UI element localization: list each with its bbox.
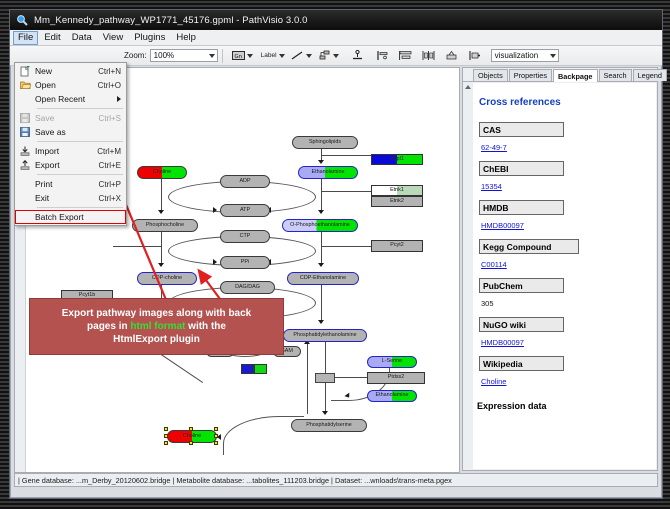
file-menu-exit[interactable]: Exit Ctrl+X	[15, 191, 126, 205]
side-panel: Objects Properties Backpage Search Legen…	[462, 67, 658, 471]
xref-header-nugo-wiki: NuGO wiki	[479, 317, 564, 332]
tab-legend[interactable]: Legend	[633, 69, 667, 82]
pathvisio-icon	[16, 14, 29, 27]
menu-help[interactable]: Help	[171, 31, 201, 45]
group-icon[interactable]	[444, 49, 459, 63]
folder-open-icon	[15, 80, 35, 90]
tab-search[interactable]: Search	[599, 69, 632, 82]
align-distribute-icon[interactable]	[421, 49, 436, 63]
file-menu-open-recent[interactable]: Open Recent	[15, 92, 126, 106]
xref-header-pubchem: PubChem	[479, 278, 564, 293]
menu-file[interactable]: File	[13, 31, 38, 45]
label-dropdown-icon[interactable]	[279, 49, 286, 63]
xref-header-kegg-compound: Kegg Compound	[479, 239, 579, 254]
file-menu-import[interactable]: Import Ctrl+M	[15, 144, 126, 158]
menu-divider	[37, 207, 123, 208]
file-menu-batch-export-label: Batch Export	[35, 212, 126, 222]
tab-properties[interactable]: Properties	[509, 69, 552, 82]
xref-header-hmdb: HMDB	[479, 200, 564, 215]
tab-backpage[interactable]: Backpage	[553, 69, 597, 83]
annotation-callout: Export pathway images along with back pa…	[29, 298, 284, 355]
file-menu-export[interactable]: Export Ctrl+E	[15, 158, 126, 172]
chevron-right-icon	[117, 96, 121, 102]
screenshot-root: Mm_Kennedy_pathway_WP1771_45176.gpml - P…	[0, 0, 670, 509]
xref-value-kegg-compound[interactable]: C00114	[481, 260, 507, 269]
file-menu-save-label: Save	[35, 113, 99, 123]
status-text: | Gene database: ...m_Derby_20120602.bri…	[15, 476, 452, 485]
save-disk-icon	[15, 113, 35, 123]
visualization-combobox[interactable]: visualization	[491, 49, 559, 62]
label-tool-icon[interactable]: Label	[260, 52, 278, 59]
svg-text:Gn: Gn	[234, 54, 242, 60]
menu-divider	[37, 108, 123, 109]
align-center-icon[interactable]	[398, 49, 413, 63]
file-menu-dropdown[interactable]: New Ctrl+N Open Ctrl+O Open Recent	[14, 62, 127, 226]
interaction-tool-icon[interactable]	[317, 49, 332, 63]
menu-edit[interactable]: Edit	[39, 31, 65, 45]
xref-value-chebi[interactable]: 15354	[481, 182, 502, 191]
menu-divider	[37, 174, 123, 175]
file-menu-print-label: Print	[35, 179, 99, 189]
datanode-dropdown-icon[interactable]	[247, 49, 254, 63]
file-menu-new-label: New	[35, 66, 98, 76]
file-menu-open-accel: Ctrl+O	[98, 81, 126, 90]
file-menu-import-accel: Ctrl+M	[97, 147, 126, 156]
file-menu-print[interactable]: Print Ctrl+P	[15, 177, 126, 191]
xref-value-cas[interactable]: 62-49-7	[481, 143, 507, 152]
file-menu-open-recent-label: Open Recent	[35, 94, 126, 104]
file-menu-open-label: Open	[35, 80, 98, 90]
callout-line-2b: with the	[185, 321, 226, 332]
xref-value-hmdb[interactable]: HMDB00097	[481, 221, 524, 230]
expression-data-heading: Expression data	[477, 401, 656, 411]
chevron-down-icon	[209, 54, 215, 58]
file-menu-exit-label: Exit	[35, 193, 99, 203]
interaction-dropdown-icon[interactable]	[333, 49, 340, 63]
stack-icon[interactable]	[467, 49, 482, 63]
xref-header-wikipedia: Wikipedia	[479, 356, 564, 371]
menu-bar[interactable]: File Edit Data View Plugins Help	[10, 30, 662, 46]
zoom-value: 100%	[154, 51, 174, 60]
align-left-icon[interactable]	[375, 49, 390, 63]
xref-header-chebi: ChEBI	[479, 161, 564, 176]
menu-plugins[interactable]: Plugins	[129, 31, 170, 45]
file-menu-open[interactable]: Open Ctrl+O	[15, 78, 126, 92]
file-menu-save-accel: Ctrl+S	[99, 114, 126, 123]
file-menu-save-as-label: Save as	[35, 127, 121, 137]
menu-divider	[37, 141, 123, 142]
expression-chip	[241, 364, 254, 374]
expression-chip	[254, 364, 267, 374]
callout-line-3: HtmlExport plugin	[113, 333, 200, 346]
chevron-down-icon	[550, 54, 556, 58]
file-menu-save-as[interactable]: Save as	[15, 125, 126, 139]
file-menu-new[interactable]: New Ctrl+N	[15, 64, 126, 78]
visualization-value: visualization	[495, 51, 539, 60]
callout-line-2a: pages in	[87, 321, 130, 332]
datanode-tool-icon[interactable]: Gn	[231, 49, 246, 63]
file-menu-exit-accel: Ctrl+X	[99, 194, 126, 203]
xref-header-cas: CAS	[479, 122, 564, 137]
menu-view[interactable]: View	[98, 31, 128, 45]
file-menu-save: Save Ctrl+S	[15, 111, 126, 125]
zoom-combobox[interactable]: 100%	[150, 49, 218, 62]
callout-highlight: html format	[130, 321, 185, 332]
anchor-tool-icon[interactable]	[350, 49, 365, 63]
new-document-icon	[15, 66, 35, 77]
cross-references-heading: Cross references	[479, 97, 656, 108]
callout-line-2: pages in html format with the	[87, 320, 226, 333]
export-icon	[15, 160, 35, 170]
backpage-content: Cross references CAS 62-49-7 ChEBI 15354…	[473, 83, 656, 469]
file-menu-batch-export[interactable]: Batch Export	[15, 210, 126, 224]
xref-value-wikipedia[interactable]: Choline	[481, 377, 506, 386]
pathvisio-window: Mm_Kennedy_pathway_WP1771_45176.gpml - P…	[9, 9, 663, 499]
import-icon	[15, 146, 35, 156]
xref-value-pubchem: 305	[481, 299, 494, 308]
file-menu-import-label: Import	[35, 146, 97, 156]
tab-objects[interactable]: Objects	[473, 69, 508, 82]
status-bar: | Gene database: ...m_Derby_20120602.bri…	[14, 473, 658, 487]
toolbar-separator	[222, 49, 223, 63]
line-tool-icon[interactable]	[290, 49, 305, 63]
line-dropdown-icon[interactable]	[306, 49, 313, 63]
file-menu-export-accel: Ctrl+E	[99, 161, 126, 170]
callout-line-1: Export pathway images along with back	[62, 307, 252, 320]
xref-value-nugo-wiki[interactable]: HMDB00097	[481, 338, 524, 347]
save-as-icon	[15, 127, 35, 137]
zoom-label: Zoom:	[124, 51, 147, 60]
file-menu-print-accel: Ctrl+P	[99, 180, 126, 189]
window-title: Mm_Kennedy_pathway_WP1771_45176.gpml - P…	[34, 15, 308, 26]
file-menu-export-label: Export	[35, 160, 99, 170]
window-titlebar: Mm_Kennedy_pathway_WP1771_45176.gpml - P…	[10, 10, 662, 30]
side-panel-tabs[interactable]: Objects Properties Backpage Search Legen…	[463, 68, 657, 82]
collapse-arrow-icon[interactable]	[465, 85, 471, 89]
file-menu-new-accel: Ctrl+N	[98, 67, 126, 76]
menu-data[interactable]: Data	[67, 31, 97, 45]
